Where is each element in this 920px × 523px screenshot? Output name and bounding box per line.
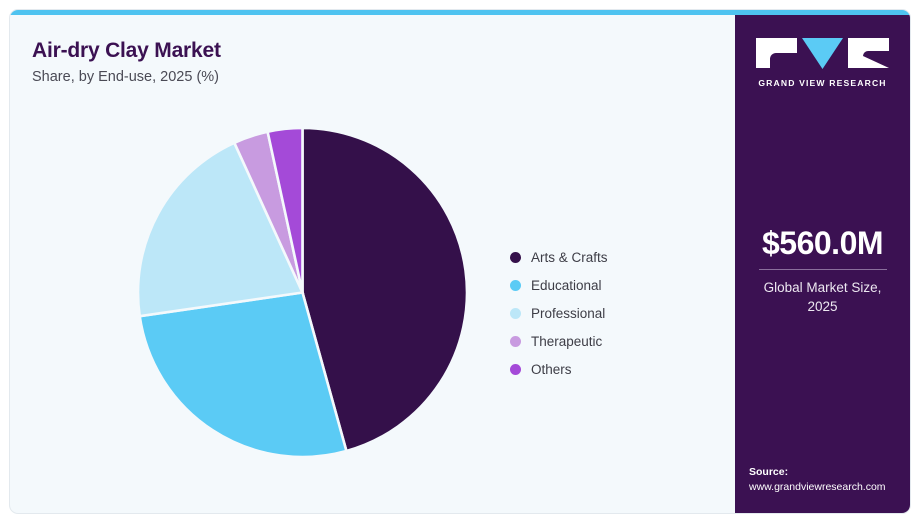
pie-chart-svg (138, 128, 467, 457)
legend-swatch-icon (510, 252, 521, 263)
legend-swatch-icon (510, 364, 521, 375)
infographic-card: Air-dry Clay Market Share, by End-use, 2… (10, 10, 910, 513)
gvr-logo-icon (756, 37, 889, 71)
legend-item-therapeutic[interactable]: Therapeutic (510, 327, 710, 355)
legend-item-others[interactable]: Others (510, 355, 710, 383)
market-size-stat: $560.0M Global Market Size, 2025 (735, 225, 910, 316)
chart-subtitle: Share, by End-use, 2025 (%) (32, 69, 219, 85)
brand-logo-text: GRAND VIEW RESEARCH (735, 78, 910, 88)
legend-item-label: Therapeutic (531, 334, 602, 349)
legend-item-label: Professional (531, 306, 605, 321)
legend-item-arts-crafts[interactable]: Arts & Crafts (510, 243, 710, 271)
legend-swatch-icon (510, 308, 521, 319)
legend-item-label: Others (531, 362, 572, 377)
source-label: Source: (749, 465, 910, 480)
pie-slice-group (138, 128, 467, 457)
stat-value: $560.0M (735, 225, 910, 262)
legend-item-label: Arts & Crafts (531, 250, 608, 265)
pie-chart (138, 128, 467, 457)
source-block: Source: www.grandviewresearch.com (749, 465, 910, 495)
stat-caption: Global Market Size, 2025 (735, 278, 910, 316)
legend-item-professional[interactable]: Professional (510, 299, 710, 327)
stat-divider (759, 269, 887, 270)
legend-item-label: Educational (531, 278, 602, 293)
source-url[interactable]: www.grandviewresearch.com (749, 480, 910, 495)
legend-swatch-icon (510, 280, 521, 291)
brand-logo[interactable]: GRAND VIEW RESEARCH (735, 37, 910, 88)
chart-legend: Arts & Crafts Educational Professional T… (510, 243, 710, 383)
page-title: Air-dry Clay Market (32, 39, 221, 63)
legend-item-educational[interactable]: Educational (510, 271, 710, 299)
brand-panel: GRAND VIEW RESEARCH $560.0M Global Marke… (735, 15, 910, 513)
legend-swatch-icon (510, 336, 521, 347)
chart-pane: Air-dry Clay Market Share, by End-use, 2… (10, 15, 735, 513)
